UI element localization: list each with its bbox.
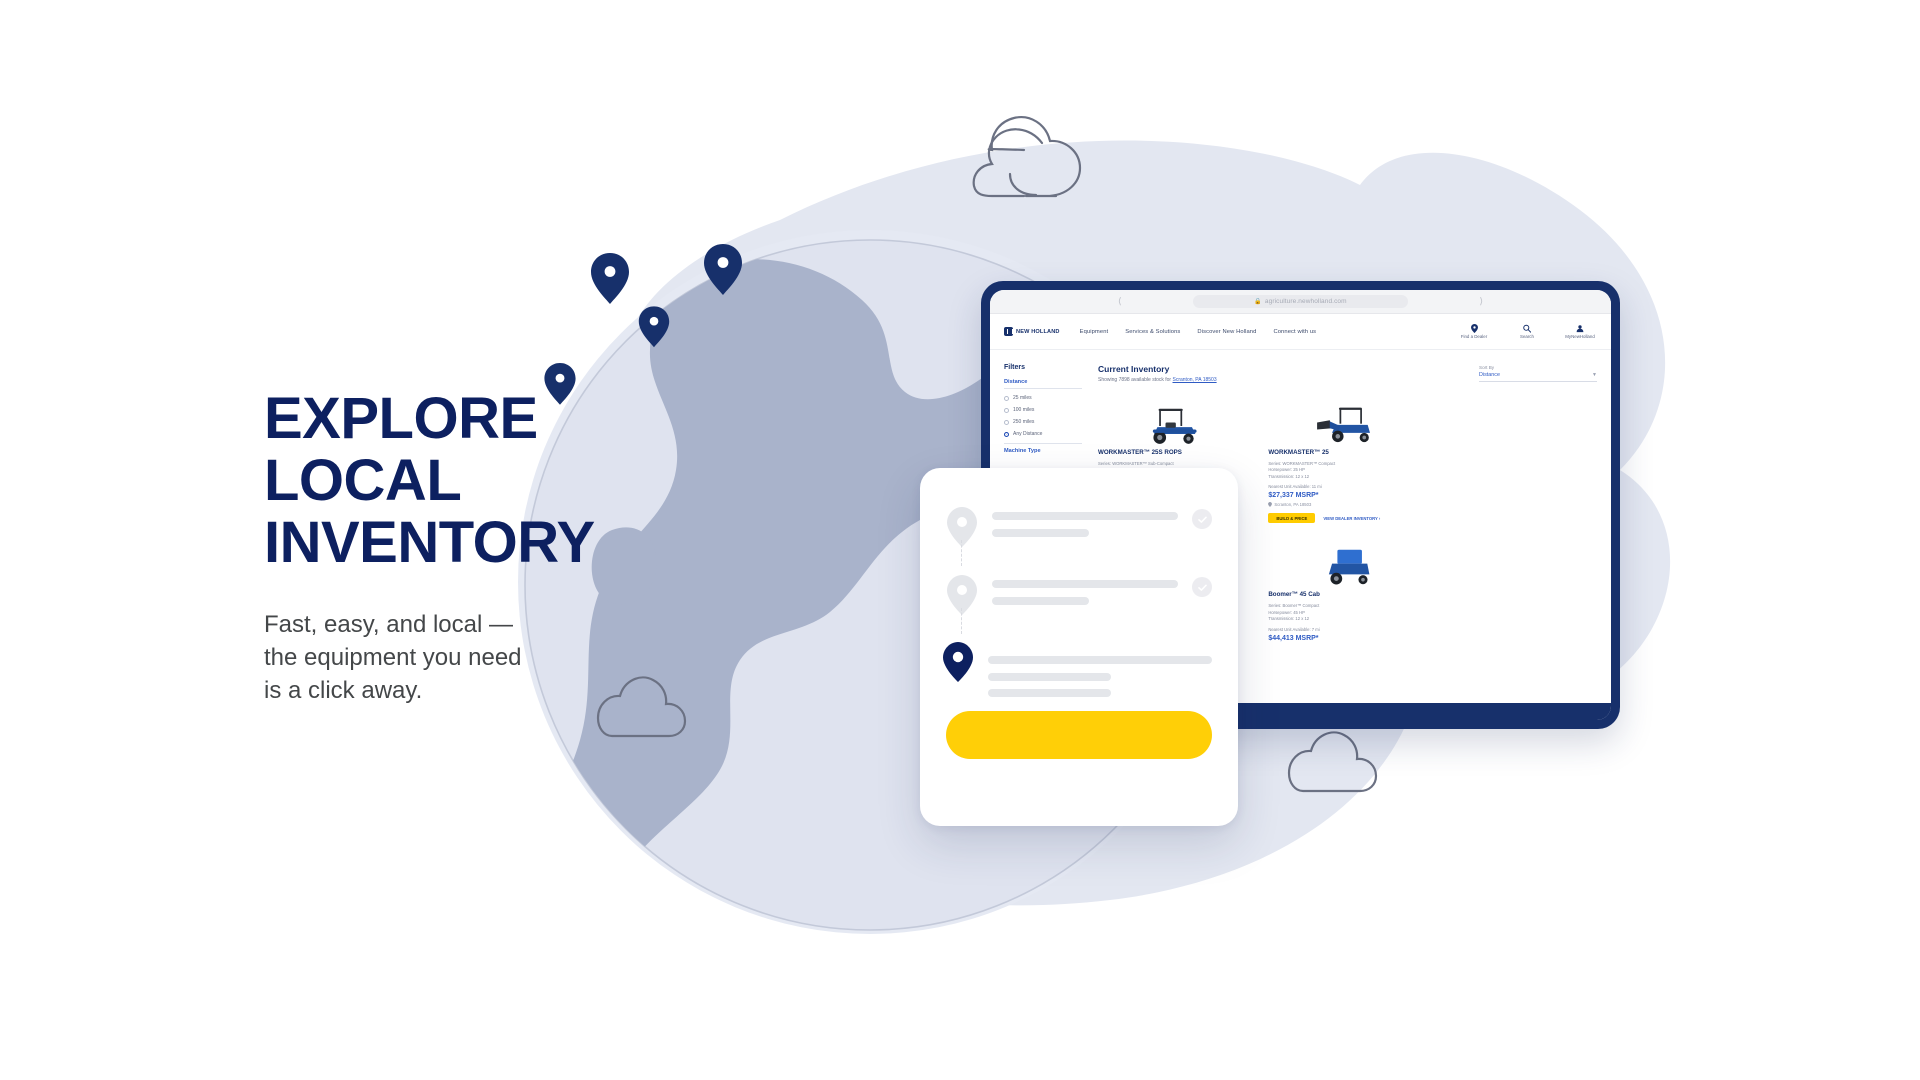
map-pin-icon-active (942, 636, 974, 688)
address-bar-url: agriculture.newholland.com (1265, 298, 1347, 305)
headline-line-2: LOCAL (264, 450, 694, 512)
check-circle-icon (1192, 509, 1212, 529)
product-image (1098, 393, 1256, 449)
radio-icon (1004, 420, 1009, 425)
nav-link-connect-with-us[interactable]: Connect with us (1273, 329, 1316, 335)
filter-option-label: 250 miles (1013, 419, 1034, 425)
results-location-link[interactable]: Scranton, PA 18503 (1173, 377, 1217, 383)
filter-option-label: 25 miles (1013, 395, 1032, 401)
filter-option-250-miles[interactable]: 250 miles (1004, 419, 1082, 425)
filter-option-25-miles[interactable]: 25 miles (1004, 395, 1082, 401)
headline-line-1: EXPLORE (264, 388, 694, 450)
sort-by-value: Distance (1479, 372, 1500, 378)
radio-icon (1004, 396, 1009, 401)
results-subtitle: Showing 7898 available stock for Scranto… (1098, 377, 1217, 383)
nav-link-discover-new-holland[interactable]: Discover New Holland (1197, 329, 1256, 335)
product-price: $27,337 MSRP* (1268, 492, 1426, 499)
product-spec: Transmission: 12 x 12 (1268, 616, 1426, 623)
search-button[interactable]: Search (1510, 324, 1544, 340)
inventory-card[interactable]: Boomer™ 45 Cab Series: Boomer™ Compact H… (1268, 535, 1426, 641)
user-icon (1576, 324, 1584, 333)
product-spec: Transmission: 12 x 12 (1268, 474, 1426, 481)
dealer-row-selected[interactable] (946, 642, 1212, 697)
product-image (1268, 393, 1426, 449)
search-label: Search (1520, 334, 1534, 339)
brand-name: NEW HOLLAND (1016, 329, 1060, 335)
filter-option-100-miles[interactable]: 100 miles (1004, 407, 1082, 413)
nav-link-services-solutions[interactable]: Services & Solutions (1125, 329, 1180, 335)
sort-by-control[interactable]: Sort By Distance ▼ (1479, 365, 1597, 382)
dealer-row[interactable] (946, 574, 1212, 616)
product-title: Boomer™ 45 Cab (1268, 591, 1426, 599)
product-availability: Nearest Unit Available: 7 mi (1268, 627, 1426, 632)
site-navigation-bar: NEW HOLLAND Equipment Services & Solutio… (990, 314, 1611, 350)
map-pin-icon (1268, 502, 1272, 507)
product-cta-row: BUILD & PRICE VIEW DEALER INVENTORY › (1268, 513, 1426, 523)
find-a-dealer-label: Find a Dealer (1461, 334, 1487, 339)
product-availability: Nearest Unit Available: 11 mi (1268, 484, 1426, 489)
chevron-left-icon[interactable]: ⟨ (1118, 297, 1122, 306)
page-title: EXPLORE LOCAL INVENTORY (264, 388, 694, 574)
filter-option-label: 100 miles (1013, 407, 1034, 413)
placeholder-bar (992, 597, 1089, 605)
map-pin-icon (1471, 324, 1478, 333)
browser-chrome: ⟨ 🔒 agriculture.newholland.com ⟩ (990, 290, 1611, 314)
chevron-down-icon: ▼ (1592, 372, 1597, 378)
product-dealer-text: Scranton, PA 18503 (1274, 502, 1311, 507)
product-title: WORKMASTER™ 25S ROPS (1098, 449, 1256, 457)
filter-option-any-distance[interactable]: Any Distance (1004, 431, 1082, 437)
placeholder-bar (988, 673, 1111, 681)
placeholder-bar (988, 656, 1212, 664)
new-holland-logo-icon (1004, 327, 1013, 336)
filter-group-machine-type[interactable]: Machine Type (1004, 443, 1082, 454)
sort-by-select[interactable]: Distance ▼ (1479, 372, 1597, 382)
sort-by-label: Sort By (1479, 365, 1597, 370)
map-pin-icon (591, 253, 629, 304)
brand-logo[interactable]: NEW HOLLAND (1004, 327, 1060, 336)
dealer-info-placeholder (992, 506, 1178, 537)
product-dealer: Scranton, PA 18503 (1268, 502, 1426, 507)
chevron-right-icon[interactable]: ⟩ (1479, 297, 1483, 306)
inventory-card[interactable]: WORKMASTER™ 25 Series: WORKMASTER™ Compa… (1268, 393, 1426, 523)
dealer-selection-card (920, 468, 1238, 826)
tractor-illustration (1142, 403, 1212, 449)
connector-line (961, 608, 962, 634)
map-pin-icon (946, 506, 978, 548)
check-circle-icon (1192, 577, 1212, 597)
placeholder-bar (992, 580, 1178, 588)
results-title: Current Inventory (1098, 364, 1217, 374)
headline-line-3: INVENTORY (264, 512, 694, 574)
filter-group-distance[interactable]: Distance (1004, 379, 1082, 389)
product-price: $44,413 MSRP* (1268, 635, 1426, 642)
nav-link-equipment[interactable]: Equipment (1080, 329, 1109, 335)
results-header: Current Inventory Showing 7898 available… (1098, 364, 1597, 383)
results-showing-text: Showing 7898 available stock for (1098, 377, 1171, 383)
connector-line (961, 540, 962, 566)
hero-copy: EXPLORE LOCAL INVENTORY Fast, easy, and … (264, 388, 694, 707)
address-bar[interactable]: 🔒 agriculture.newholland.com (1193, 295, 1408, 308)
hero-illustration-stage: EXPLORE LOCAL INVENTORY Fast, easy, and … (0, 0, 1920, 1080)
placeholder-bar (992, 512, 1178, 520)
filters-title: Filters (1004, 364, 1082, 371)
nav-links: Equipment Services & Solutions Discover … (1080, 329, 1317, 335)
map-pin-icon (946, 574, 978, 616)
find-a-dealer-button[interactable]: Find a Dealer (1457, 324, 1491, 340)
radio-icon-selected (1004, 432, 1009, 437)
my-new-holland-button[interactable]: MyNewHolland (1563, 324, 1597, 340)
product-title: WORKMASTER™ 25 (1268, 449, 1426, 457)
tractor-illustration (1315, 547, 1379, 591)
tractor-illustration (1310, 403, 1384, 449)
dealer-info-placeholder (992, 574, 1178, 605)
lock-icon: 🔒 (1254, 298, 1262, 305)
results-heading-block: Current Inventory Showing 7898 available… (1098, 364, 1217, 383)
placeholder-bar (992, 529, 1089, 537)
dealer-row[interactable] (946, 506, 1212, 548)
primary-cta-button[interactable] (946, 711, 1212, 759)
product-image (1268, 535, 1426, 591)
build-and-price-button[interactable]: BUILD & PRICE (1268, 513, 1315, 523)
search-icon (1523, 324, 1531, 333)
filter-option-label: Any Distance (1013, 431, 1042, 437)
nav-actions: Find a Dealer Search (1457, 324, 1597, 340)
radio-icon (1004, 408, 1009, 413)
my-new-holland-label: MyNewHolland (1565, 334, 1595, 339)
view-dealer-inventory-link[interactable]: VIEW DEALER INVENTORY › (1323, 516, 1380, 521)
dealer-info-placeholder (988, 642, 1212, 697)
hero-subcopy: Fast, easy, and local — the equipment yo… (264, 608, 534, 707)
placeholder-bar (988, 689, 1111, 697)
